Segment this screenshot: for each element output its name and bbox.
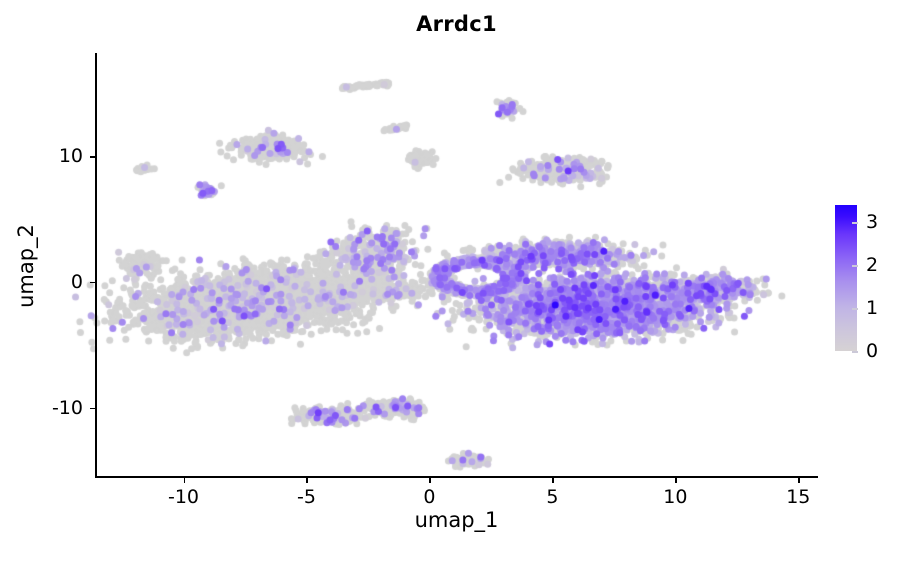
x-tick-label: 15 [786,486,810,508]
x-tick [552,478,554,483]
plot-axes: -10-5051015 100-10 [95,53,818,478]
axis-spine-left [95,53,97,478]
colorbar-tick-label: 3 [866,211,878,233]
x-tick-label: -10 [168,486,199,508]
x-tick [184,478,186,483]
colorbar: 0123 [835,205,905,351]
x-tick [675,478,677,483]
x-tick-label: 5 [546,486,558,508]
x-axis-label: umap_1 [95,508,818,532]
y-tick-label: 10 [59,145,83,167]
y-tick-label: -10 [52,397,83,419]
colorbar-gradient [835,205,857,351]
colorbar-tick [852,308,858,310]
y-axis-label: umap_2 [14,53,38,478]
y-tick [90,156,95,158]
axis-spine-bottom [95,476,818,478]
x-tick [429,478,431,483]
y-tick [90,282,95,284]
x-tick-label: -5 [297,486,316,508]
y-tick [90,408,95,410]
colorbar-tick-label: 2 [866,254,878,276]
colorbar-tick-label: 0 [866,340,878,362]
colorbar-tick [852,351,858,353]
y-axis-label-text: umap_2 [14,224,38,308]
y-tick-label: 0 [71,271,83,293]
figure: Arrdc1 -10-5051015 100-10 umap_1 umap_2 … [0,0,911,562]
colorbar-tick-label: 1 [866,297,878,319]
x-tick-label: 0 [423,486,435,508]
colorbar-tick [852,265,858,267]
colorbar-tick [852,222,858,224]
x-tick-label: 10 [663,486,687,508]
x-tick [306,478,308,483]
x-tick [798,478,800,483]
